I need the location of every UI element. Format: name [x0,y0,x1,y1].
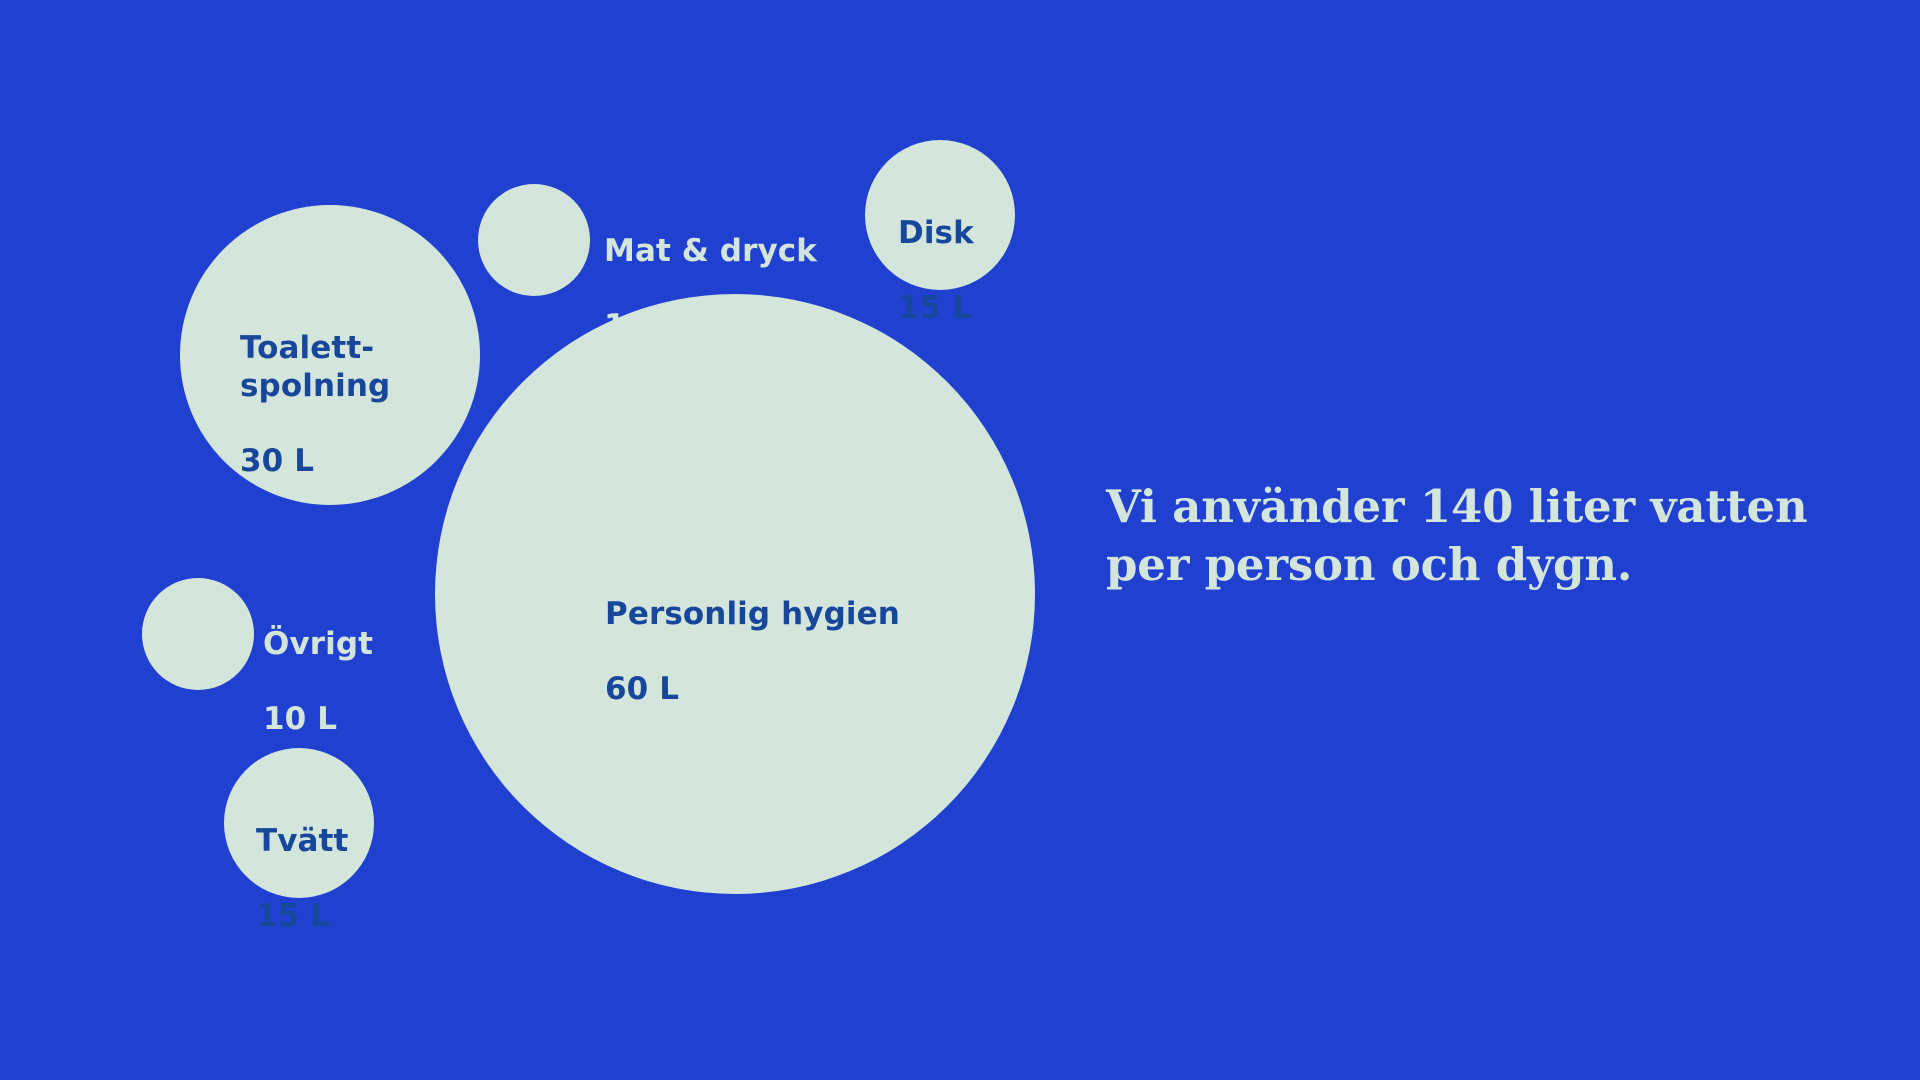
bubble-tvatt [224,748,374,898]
bubble-ovrigt [142,578,254,690]
bubble-label-ovrigt: Övrigt 10 L [263,588,373,777]
bubble-label-disk-value: 15 L [898,290,974,328]
bubble-disk [865,140,1015,290]
bubble-label-ovrigt-name: Övrigt [263,626,373,664]
bubble-toalettspolning [180,205,480,505]
bubble-label-mat-dryck-name: Mat & dryck [604,233,817,271]
infographic-root: Toalett- spolning 30 L Mat & dryck 10 L … [0,0,1920,1080]
bubble-chart: Toalett- spolning 30 L Mat & dryck 10 L … [0,0,1100,1080]
bubble-mat-dryck [478,184,590,296]
headline: Vi använder 140 liter vatten per person … [1106,478,1846,593]
bubble-label-ovrigt-value: 10 L [263,701,373,739]
bubble-label-tvatt-value: 15 L [256,898,348,936]
bubble-personlig-hygien [435,294,1035,894]
